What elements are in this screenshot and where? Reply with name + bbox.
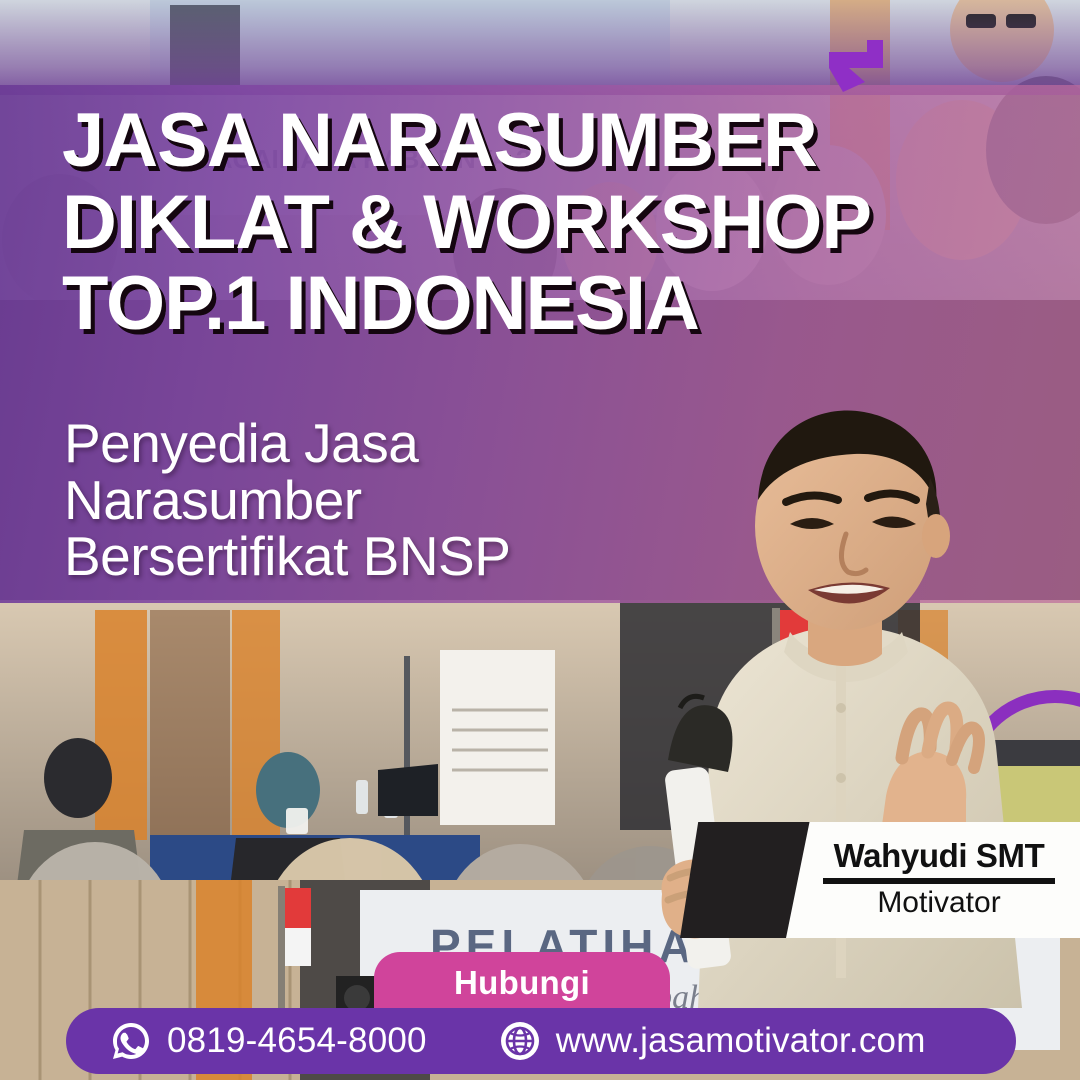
speaker-name-card: Wahyudi SMT Motivator [680,822,1080,938]
website-url: www.jasamotivator.com [556,1021,926,1061]
name-card-divider [823,878,1055,884]
subheading-line-2: Narasumber [64,472,684,529]
poster-canvas: BAGAIMANA KABARNYA ? [0,0,1080,1080]
speaker-name: Wahyudi SMT [834,839,1045,874]
overlay-top-fade [0,0,1080,95]
subheading-line-3: Bersertifikat BNSP [64,528,684,585]
speaker-role: Motivator [877,887,1000,919]
headline-line-2: DIKLAT & WORKSHOP [62,186,992,260]
name-card-plate: Wahyudi SMT Motivator [786,822,1080,938]
subheading: Penyedia Jasa Narasumber Bersertifikat B… [64,415,684,585]
whatsapp-number: 0819-4654-8000 [167,1021,427,1061]
hubungi-button[interactable]: Hubungi [374,952,670,1014]
logo-mark-icon [827,38,885,94]
page-title: JASA NARASUMBER DIKLAT & WORKSHOP TOP.1 … [62,104,992,341]
whatsapp-icon [110,1020,152,1062]
globe-icon [499,1020,541,1062]
contact-website[interactable]: www.jasamotivator.com [499,1020,926,1062]
contact-whatsapp[interactable]: 0819-4654-8000 [110,1020,427,1062]
headline-line-3: TOP.1 INDONESIA [62,267,992,341]
hubungi-label: Hubungi [454,964,590,1002]
headline-line-1: JASA NARASUMBER [62,104,992,178]
subheading-line-1: Penyedia Jasa [64,415,684,472]
contact-bar: 0819-4654-8000 www.jasamotivator.com [66,1008,1016,1074]
